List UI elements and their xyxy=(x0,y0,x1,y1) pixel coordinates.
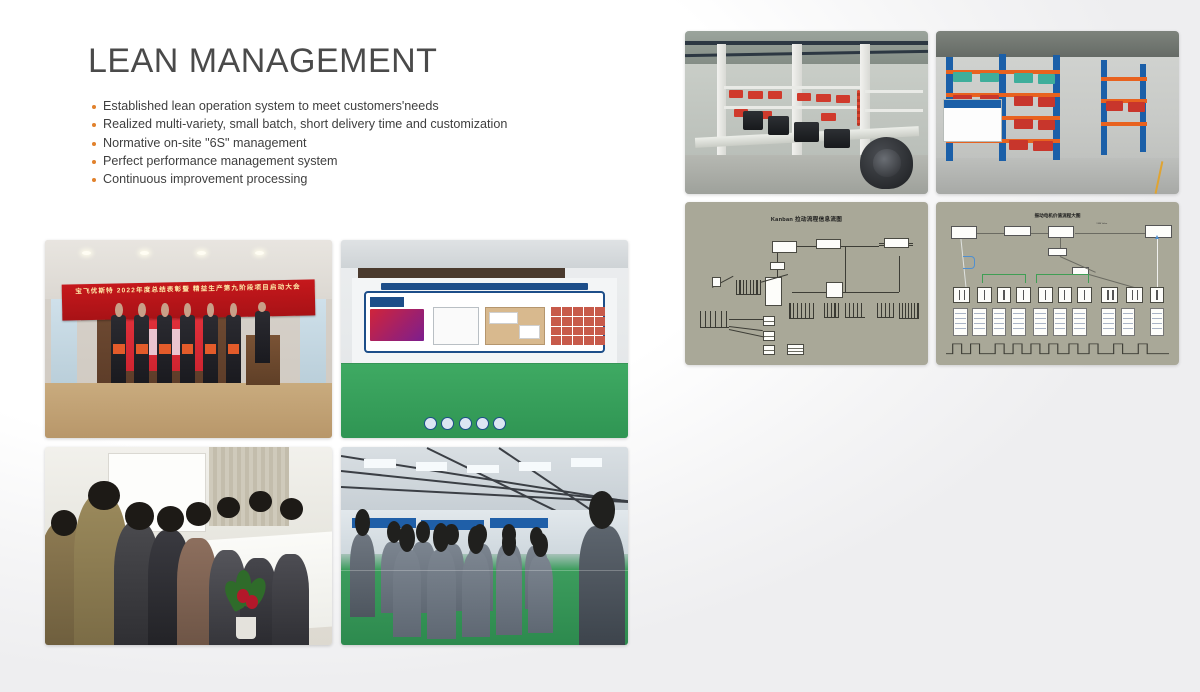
bullet-dot-icon xyxy=(92,105,96,109)
person-head xyxy=(88,481,120,511)
kaizen-workshop-photo xyxy=(45,447,332,645)
ceiling xyxy=(341,240,628,268)
person xyxy=(134,315,149,382)
person xyxy=(272,554,309,645)
person-head xyxy=(125,502,154,530)
motor-unit xyxy=(768,116,790,136)
foreground-person xyxy=(579,526,625,645)
person-head xyxy=(249,491,272,513)
list-item: Established lean operation system to mee… xyxy=(92,98,562,116)
supplier-box xyxy=(951,226,978,239)
board-corkboard xyxy=(485,307,545,345)
large-motor-fan xyxy=(860,137,913,189)
kanban-sign-board xyxy=(943,99,1001,141)
control-box xyxy=(765,277,782,306)
process-box xyxy=(816,239,840,249)
kanban-rack xyxy=(824,303,839,318)
kanban-diagram-title: Kanban 拉动流程信息流图 xyxy=(685,215,928,223)
bullet-list: Established lean operation system to mee… xyxy=(92,98,562,189)
board-screen xyxy=(370,309,425,341)
kanban-rack xyxy=(700,311,729,327)
team-meeting-photo xyxy=(341,447,628,645)
list-item-label: Established lean operation system to mee… xyxy=(103,98,439,116)
data-box xyxy=(1011,308,1026,336)
floor xyxy=(936,158,1179,194)
photo-grid: 宝飞优斯特 2022年度总结表彰暨 精益生产第九阶段项目启动大会 xyxy=(45,240,628,646)
kanban-rack xyxy=(899,303,918,319)
potted-plant xyxy=(223,564,269,639)
motor-unit xyxy=(824,129,851,149)
list-item: Realized multi-variety, small batch, sho… xyxy=(92,116,562,134)
person xyxy=(528,556,554,633)
list-item-label: Realized multi-variety, small batch, sho… xyxy=(103,116,507,134)
process-box xyxy=(770,262,785,270)
board-chart xyxy=(433,307,479,345)
company-logo xyxy=(370,297,404,307)
timeline-ladder xyxy=(946,339,1170,359)
motor-unit xyxy=(794,122,818,142)
warehouse-racking-photo xyxy=(936,31,1179,194)
station-box xyxy=(712,277,722,287)
process-cell xyxy=(1077,287,1092,303)
ceiling-light xyxy=(140,251,149,255)
control-box xyxy=(826,282,843,298)
data-box xyxy=(1101,308,1116,336)
station-box xyxy=(787,344,804,355)
list-item-label: Normative on-site "6S" management xyxy=(103,135,307,153)
flow-bracket xyxy=(1036,274,1089,284)
person xyxy=(393,550,422,637)
left-content-panel: LEAN MANAGEMENT Established lean operati… xyxy=(0,0,672,692)
data-box xyxy=(1072,308,1087,336)
kanban-rack xyxy=(736,280,760,295)
kanban-rack xyxy=(877,303,894,318)
board-header-strip xyxy=(381,283,588,291)
person xyxy=(350,534,376,617)
station-box xyxy=(763,345,775,355)
page-title: LEAN MANAGEMENT xyxy=(88,42,437,81)
flow-bracket xyxy=(982,274,1026,284)
bullet-dot-icon xyxy=(92,123,96,127)
process-cell xyxy=(977,287,992,303)
right-content-panel: Kanban 拉动流程信息流图 xyxy=(672,0,1200,692)
right-media-grid: Kanban 拉动流程信息流图 xyxy=(685,31,1179,365)
process-cell xyxy=(1126,287,1143,303)
schedule-box xyxy=(1048,248,1067,256)
list-item: Continuous improvement processing xyxy=(92,171,562,189)
person-head xyxy=(51,510,77,536)
data-box xyxy=(1053,308,1068,336)
kanban-rack xyxy=(789,303,813,319)
information-board-photo xyxy=(341,240,628,438)
ceiling-light xyxy=(255,251,264,255)
data-box xyxy=(1033,308,1048,336)
air-hose xyxy=(857,90,860,126)
motor-unit xyxy=(743,111,762,131)
bullet-dot-icon xyxy=(92,142,96,146)
station-box xyxy=(763,316,775,326)
person xyxy=(111,315,126,382)
speaker xyxy=(255,311,270,362)
process-cell xyxy=(1101,287,1118,303)
person xyxy=(496,554,522,635)
process-box xyxy=(884,238,908,248)
process-cell xyxy=(1150,287,1165,303)
floor-edge xyxy=(341,363,628,364)
stage-floor xyxy=(45,383,332,438)
process-cell xyxy=(1058,287,1073,303)
process-box xyxy=(1004,226,1031,236)
process-box xyxy=(772,241,796,252)
wall-banner xyxy=(490,518,547,528)
person xyxy=(462,552,491,637)
person xyxy=(427,550,456,639)
value-stream-map-diagram: 振动电机价值流程大图 VSM Value xyxy=(936,202,1179,365)
roof xyxy=(936,31,1179,57)
process-cell xyxy=(953,287,970,303)
overhead-beam xyxy=(358,268,565,278)
list-item-label: Continuous improvement processing xyxy=(103,171,307,189)
person xyxy=(157,315,172,382)
process-cell xyxy=(1038,287,1053,303)
board-photo-grid xyxy=(551,307,606,345)
factory-roof xyxy=(341,447,628,514)
person xyxy=(226,315,241,382)
production-control-box xyxy=(1048,226,1075,237)
data-box xyxy=(992,308,1007,336)
data-box xyxy=(953,308,968,336)
list-item: Normative on-site "6S" management xyxy=(92,135,562,153)
list-item: Perfect performance management system xyxy=(92,153,562,171)
vsm-diagram-title: 振动电机价值流程大图 xyxy=(936,213,1179,219)
assembly-line-photo xyxy=(685,31,928,194)
process-cell xyxy=(1016,287,1031,303)
bullet-dot-icon xyxy=(92,160,96,164)
floor-edge xyxy=(341,570,628,571)
data-box xyxy=(972,308,987,336)
bullet-dot-icon xyxy=(92,178,96,182)
person xyxy=(180,315,195,382)
award-ceremony-photo: 宝飞优斯特 2022年度总结表彰暨 精益生产第九阶段项目启动大会 xyxy=(45,240,332,438)
kanban-flow-diagram: Kanban 拉动流程信息流图 xyxy=(685,202,928,365)
kanban-rack xyxy=(845,303,864,318)
pull-arrow xyxy=(963,256,975,269)
list-item-label: Perfect performance management system xyxy=(103,153,338,171)
process-cell xyxy=(997,287,1012,303)
data-box xyxy=(1121,308,1136,336)
person xyxy=(203,315,218,382)
data-box xyxy=(1150,308,1165,336)
vsm-note: VSM Value xyxy=(1096,223,1107,225)
